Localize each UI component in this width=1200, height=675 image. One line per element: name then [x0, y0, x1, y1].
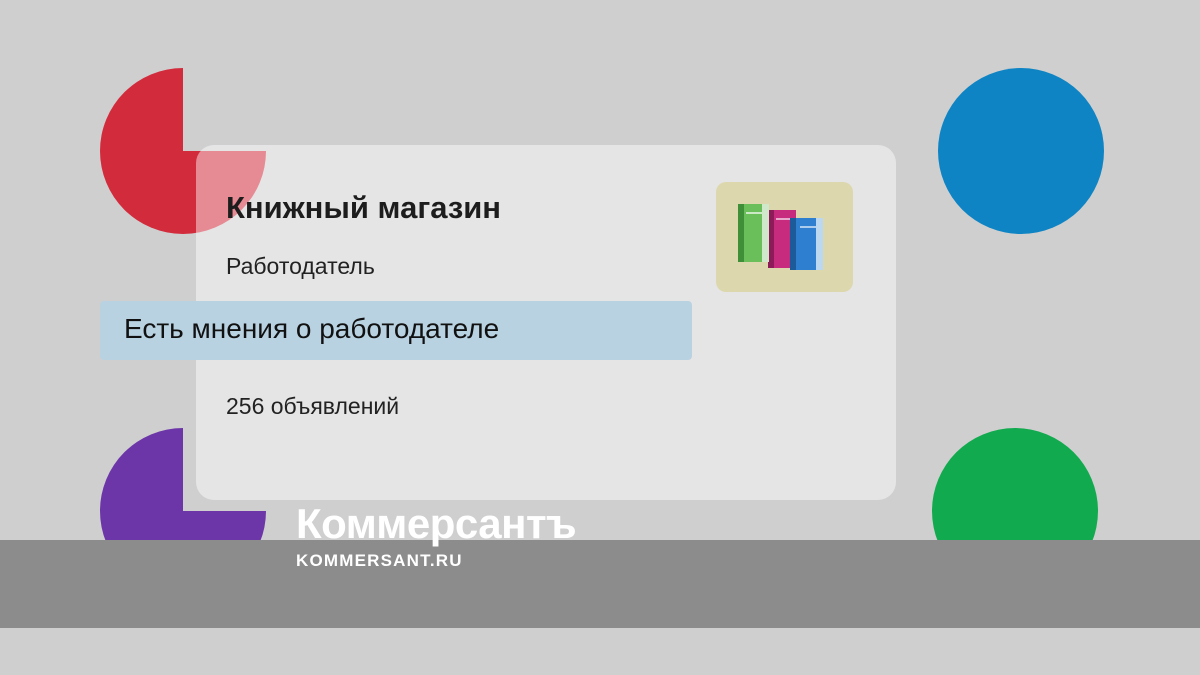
watermark-url: KOMMERSANT.RU	[296, 552, 576, 570]
watermark: Коммерсантъ KOMMERSANT.RU	[296, 502, 576, 570]
employer-role-label: Работодатель	[226, 253, 375, 280]
reviews-link-label[interactable]: Есть мнения о работодателе	[124, 313, 499, 345]
bottom-band	[0, 540, 1200, 628]
screenshot-stage: Книжный магазин Работодатель Есть мнения…	[0, 0, 1200, 675]
decorative-circle-blue	[938, 68, 1104, 234]
books-icon	[716, 182, 853, 292]
listings-count: 256 объявлений	[226, 393, 399, 420]
watermark-brand: Коммерсантъ	[296, 502, 576, 546]
employer-name: Книжный магазин	[226, 190, 501, 226]
bottom-strip	[0, 628, 1200, 675]
